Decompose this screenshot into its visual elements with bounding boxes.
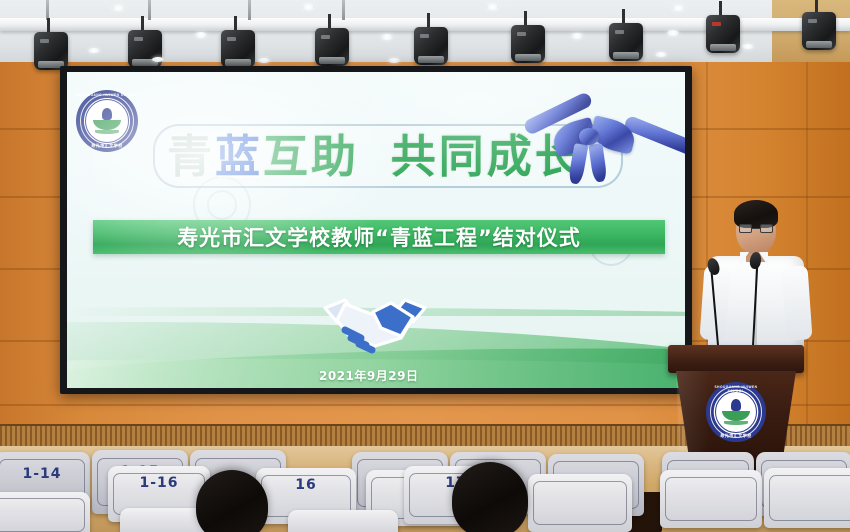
spotlight-lens: [613, 52, 639, 59]
ceiling-downlight: [742, 44, 754, 49]
seat-number: 1-16: [108, 475, 210, 491]
slide-date: 2021年9月29日: [319, 367, 418, 384]
spotlight-label: [227, 37, 236, 41]
spotlight-label: [712, 22, 721, 26]
truss-rod: [342, 0, 345, 20]
spotlight-lens: [225, 59, 251, 66]
microphone-left: [708, 258, 722, 348]
ceiling-downlight: [672, 5, 685, 11]
emblem-book: [724, 421, 748, 425]
title-char-2: 蓝: [215, 130, 263, 183]
spotlight-body: [511, 25, 545, 63]
seat[interactable]: [288, 510, 398, 532]
slide-main-title: 青蓝互助 共同成长: [167, 130, 583, 184]
truss-rod: [248, 0, 251, 20]
emblem-inner-text: 寿光市汇文学校: [706, 433, 766, 439]
emblem-outer-text: SHOUGUANG HUIWEN SCHOOL: [706, 385, 766, 393]
spotlight-body: [221, 30, 255, 68]
mic-head: [706, 257, 721, 276]
spotlight-body: [315, 28, 349, 66]
school-emblem: SHOUGUANG HUIWEN SCHOOL 寿光市汇文学校: [76, 90, 138, 152]
spotlight-label: [134, 37, 143, 41]
seat[interactable]: [528, 474, 632, 532]
spotlight-body: [128, 30, 162, 68]
emblem-figure: [731, 399, 741, 411]
spotlight-lens: [319, 57, 345, 64]
seat-piping: [533, 481, 627, 525]
ceiling-downlight: [655, 52, 667, 57]
title-char-7: 成: [487, 130, 535, 183]
seat[interactable]: [0, 492, 90, 532]
stage-spotlight: [609, 23, 643, 65]
ceiling-downlight: [88, 48, 100, 53]
audience-person-head: [196, 470, 268, 532]
seat[interactable]: [660, 470, 762, 528]
projection-screen-bezel: SHOUGUANG HUIWEN SCHOOL 寿光市汇文学校 青蓝互助 共同成…: [60, 66, 692, 394]
title-char-3: 互: [263, 130, 311, 183]
spotlight-lens: [515, 54, 541, 61]
title-char-5: 共: [391, 130, 439, 183]
ceiling-downlight: [258, 58, 270, 63]
seat-piping: [0, 498, 85, 532]
stage-spotlight: [706, 15, 740, 57]
slide-subtitle-bar: 寿光市汇文学校教师“青蓝工程”结对仪式: [93, 220, 665, 254]
seat-piping: [665, 477, 757, 521]
title-space: [359, 130, 391, 183]
spotlight-lens: [418, 56, 444, 63]
glasses-bridge: [752, 228, 760, 229]
emblem-inner-text: 寿光市汇文学校: [76, 143, 138, 149]
emblem-book: [95, 130, 119, 134]
spotlight-label: [517, 32, 526, 36]
auditorium-ceremony-photo: SHOUGUANG HUIWEN SCHOOL 寿光市汇文学校 青蓝互助 共同成…: [0, 0, 850, 532]
handshake-icon: [315, 294, 435, 356]
title-char-4: 助: [311, 130, 359, 183]
spotlight-label: [808, 19, 817, 23]
ceiling-downlight: [388, 58, 400, 63]
truss-rod: [46, 0, 49, 20]
ceiling-downlight: [112, 5, 125, 11]
seat-number: 16: [256, 477, 356, 493]
podium-school-emblem: SHOUGUANG HUIWEN SCHOOL 寿光市汇文学校: [706, 382, 766, 442]
title-char-6: 同: [439, 130, 487, 183]
spotlight-body: [706, 15, 740, 53]
podium-top: [668, 345, 804, 373]
spotlight-lens: [806, 41, 832, 48]
seat[interactable]: [764, 468, 850, 528]
mic-stem: [752, 266, 758, 350]
spotlight-label: [321, 35, 330, 39]
mic-stem: [711, 272, 720, 350]
audience-person-head: [452, 462, 528, 532]
truss-rod: [148, 0, 151, 20]
glasses-lens-left: [739, 224, 752, 233]
spotlight-label: [40, 39, 49, 43]
glasses-lens-right: [760, 224, 773, 233]
stage-spotlight: [802, 12, 836, 54]
spotlight-body: [802, 12, 836, 50]
spotlight-body: [34, 32, 68, 70]
speaker-glasses: [739, 224, 773, 233]
ceiling-downlight: [667, 30, 679, 36]
seat-number: 1-14: [0, 466, 90, 482]
ribbon-knot: [579, 128, 599, 145]
presentation-slide: SHOUGUANG HUIWEN SCHOOL 寿光市汇文学校 青蓝互助 共同成…: [67, 72, 685, 388]
spotlight-label: [615, 30, 624, 34]
spotlight-label: [420, 34, 429, 38]
stage-spotlight: [315, 28, 349, 70]
stage-spotlight: [511, 25, 545, 67]
spotlight-body: [609, 23, 643, 61]
ceiling-downlight: [486, 4, 499, 10]
seat-piping: [769, 475, 850, 521]
emblem-figure: [102, 108, 112, 120]
swirl-ornament: [207, 190, 237, 220]
spotlight-body: [414, 27, 448, 65]
ceiling-downlight: [571, 33, 583, 39]
speaker-arm-right: [781, 265, 812, 341]
title-char-1: 青: [167, 130, 215, 183]
ceiling-downlight: [302, 4, 315, 10]
emblem-outer-text: SHOUGUANG HUIWEN SCHOOL: [76, 93, 138, 97]
stage-spotlight: [414, 27, 448, 69]
slide-subtitle: 寿光市汇文学校教师“青蓝工程”结对仪式: [177, 222, 581, 252]
handshake-svg: [315, 294, 435, 356]
mic-head: [749, 251, 762, 269]
ceiling-downlight: [152, 57, 164, 62]
ceiling-downlight: [381, 34, 393, 40]
microphone-right: [748, 252, 762, 348]
ceiling-downlight: [195, 32, 207, 38]
spotlight-lens: [710, 44, 736, 51]
